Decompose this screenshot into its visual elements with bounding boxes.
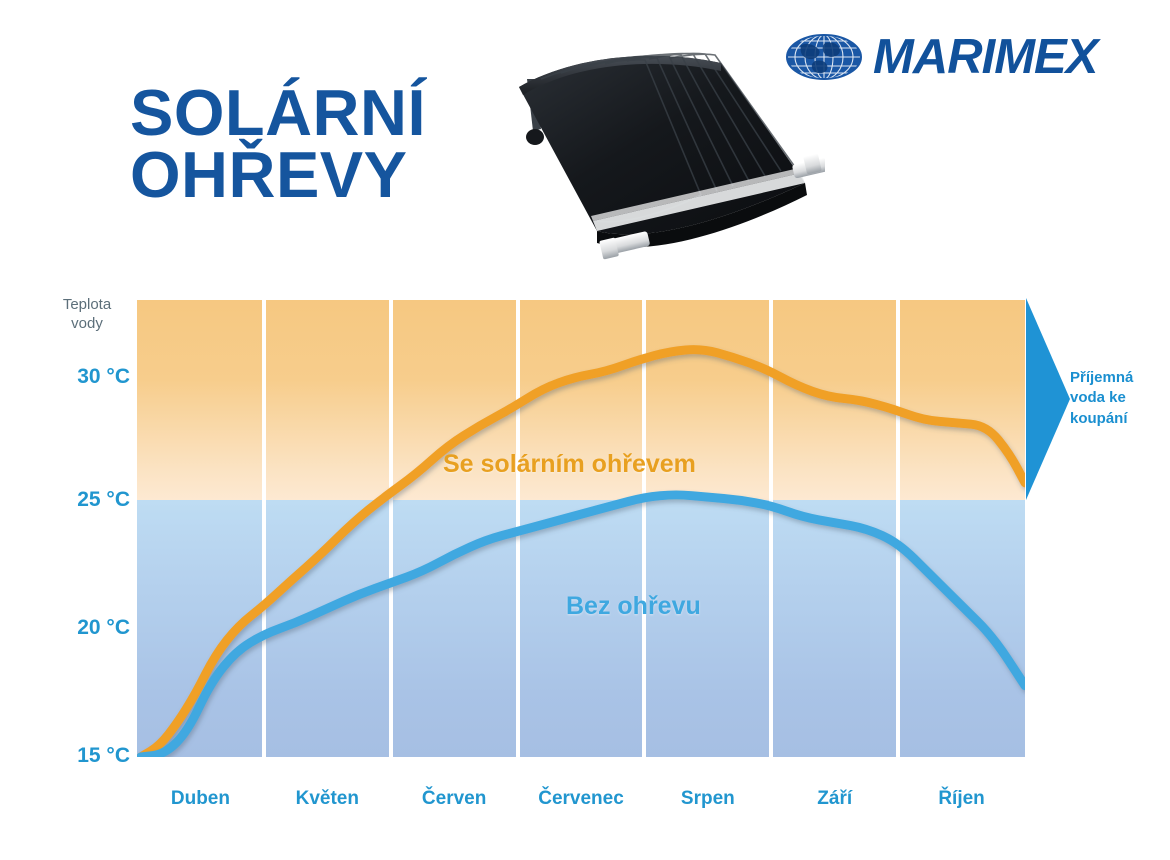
page-title: SOLÁRNÍ OHŘEVY — [130, 82, 550, 206]
right-arrow-icon — [1026, 298, 1070, 500]
y-axis-title: Teplota vody — [44, 296, 130, 334]
x-tick-červen: Červen — [422, 788, 486, 810]
y-tick-25: 25 °C — [30, 488, 130, 512]
x-tick-září: Září — [817, 788, 852, 810]
infographic-page: SOLÁRNÍ OHŘEVY — [0, 0, 1170, 860]
y-tick-20: 20 °C — [30, 616, 130, 640]
x-tick-květen: Květen — [296, 788, 359, 810]
x-tick-duben: Duben — [171, 788, 230, 810]
chart-curves — [137, 300, 1025, 757]
y-tick-15: 15 °C — [30, 744, 130, 768]
brand-wordmark: MARIMEX — [873, 33, 1097, 82]
solar-panel-image — [505, 45, 825, 285]
pleasant-water-callout: Příjemná voda ke koupání — [1070, 368, 1168, 429]
temperature-chart — [137, 300, 1025, 757]
series-label-with-solar: Se solárním ohřevem — [443, 450, 696, 479]
x-tick-srpen: Srpen — [681, 788, 735, 810]
marimex-logo: MARIMEX — [785, 26, 1125, 88]
x-tick-červenec: Červenec — [538, 788, 624, 810]
x-tick-říjen: Říjen — [938, 788, 984, 810]
curve-with-solar — [141, 350, 1025, 757]
y-tick-30: 30 °C — [30, 365, 130, 389]
curve-without-heating — [141, 495, 1025, 757]
series-label-without-heating: Bez ohřevu — [566, 592, 701, 621]
